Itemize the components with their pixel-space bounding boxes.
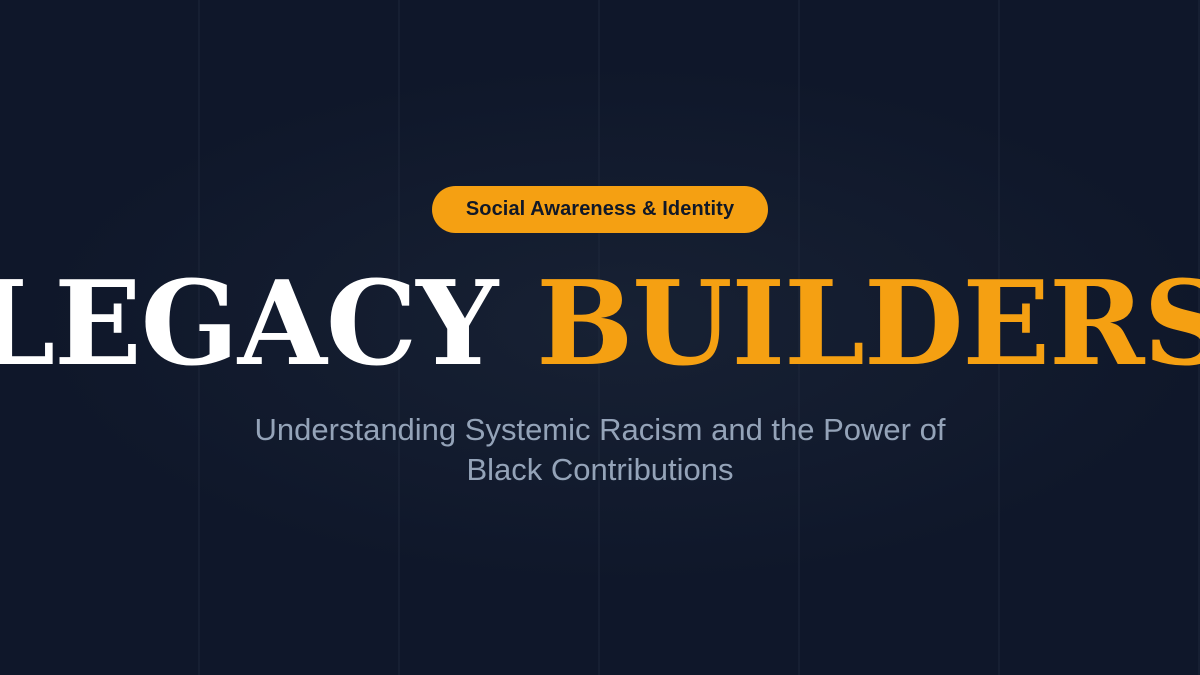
subtitle-line-2: Black Contributions — [255, 450, 946, 490]
subtitle-line-1: Understanding Systemic Racism and the Po… — [255, 410, 946, 450]
title-word-builders: BUILDERS — [536, 256, 1200, 392]
page-subtitle: Understanding Systemic Racism and the Po… — [255, 410, 946, 489]
category-badge: Social Awareness & Identity — [432, 186, 768, 233]
slide-content: Social Awareness & Identity LEGACY BUILD… — [0, 0, 1200, 675]
title-slide: Social Awareness & Identity LEGACY BUILD… — [0, 0, 1200, 675]
title-word-space — [497, 256, 536, 392]
page-title: LEGACY BUILDERS — [0, 269, 1200, 380]
title-word-legacy: LEGACY — [0, 256, 497, 392]
